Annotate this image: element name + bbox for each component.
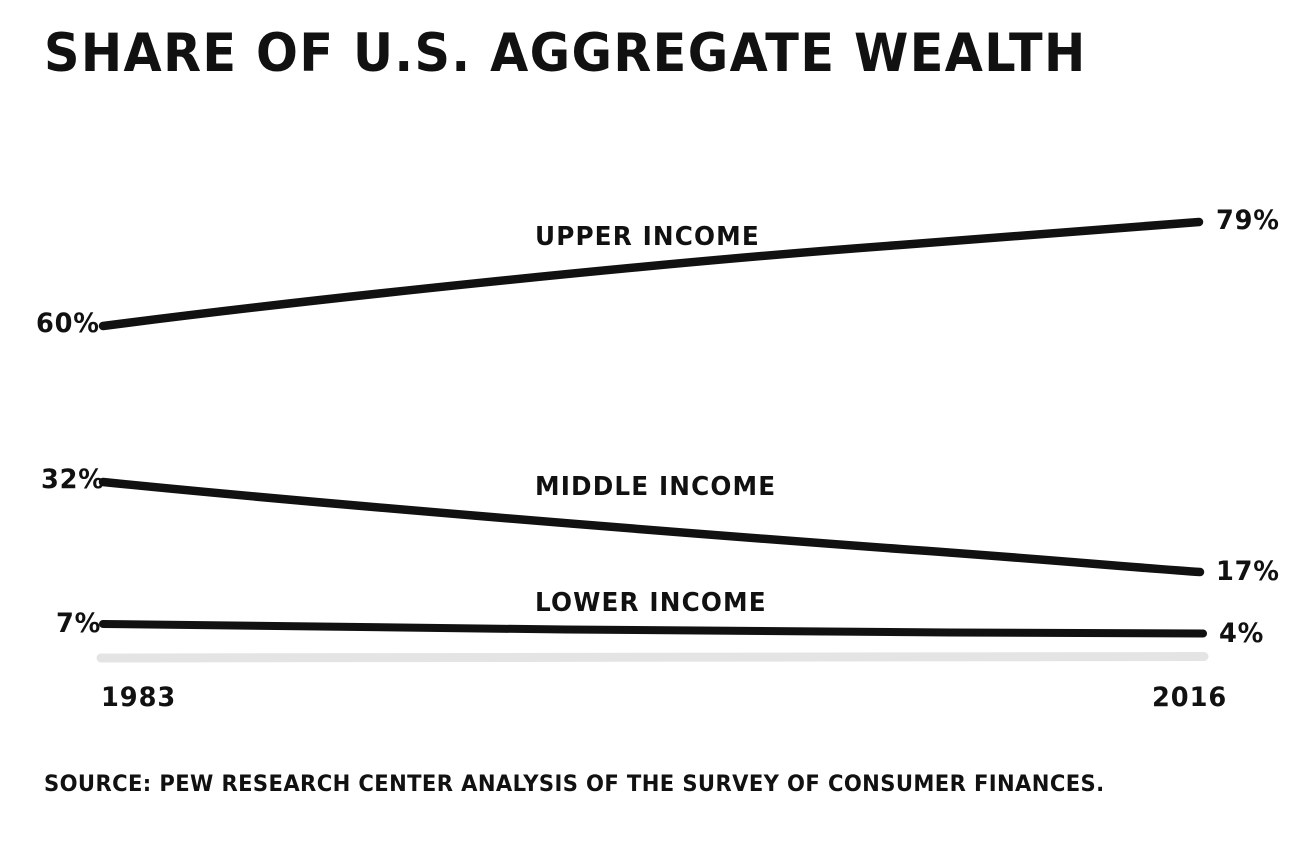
x-axis-tick-2016: 2016 [1152,682,1227,713]
line-chart-plot [0,0,1303,846]
source-note: SOURCE: PEW RESEARCH CENTER ANALYSIS OF … [44,772,1105,797]
value-label-lower-income-end: 4% [1219,618,1264,649]
series-line-lower-income [103,624,1203,634]
series-label-upper-income: UPPER INCOME [535,222,760,252]
baseline-axis [101,657,1204,659]
value-label-middle-income-end: 17% [1216,556,1280,587]
chart-canvas: SHARE OF U.S. AGGREGATE WEALTH UPPER INC… [0,0,1303,846]
series-label-lower-income: LOWER INCOME [535,588,767,618]
value-label-lower-income-start: 7% [56,608,101,639]
x-axis-tick-1983: 1983 [101,682,176,713]
series-label-middle-income: MIDDLE INCOME [535,472,776,502]
value-label-upper-income-end: 79% [1216,205,1280,236]
value-label-upper-income-start: 60% [36,308,100,339]
value-label-middle-income-start: 32% [41,464,105,495]
